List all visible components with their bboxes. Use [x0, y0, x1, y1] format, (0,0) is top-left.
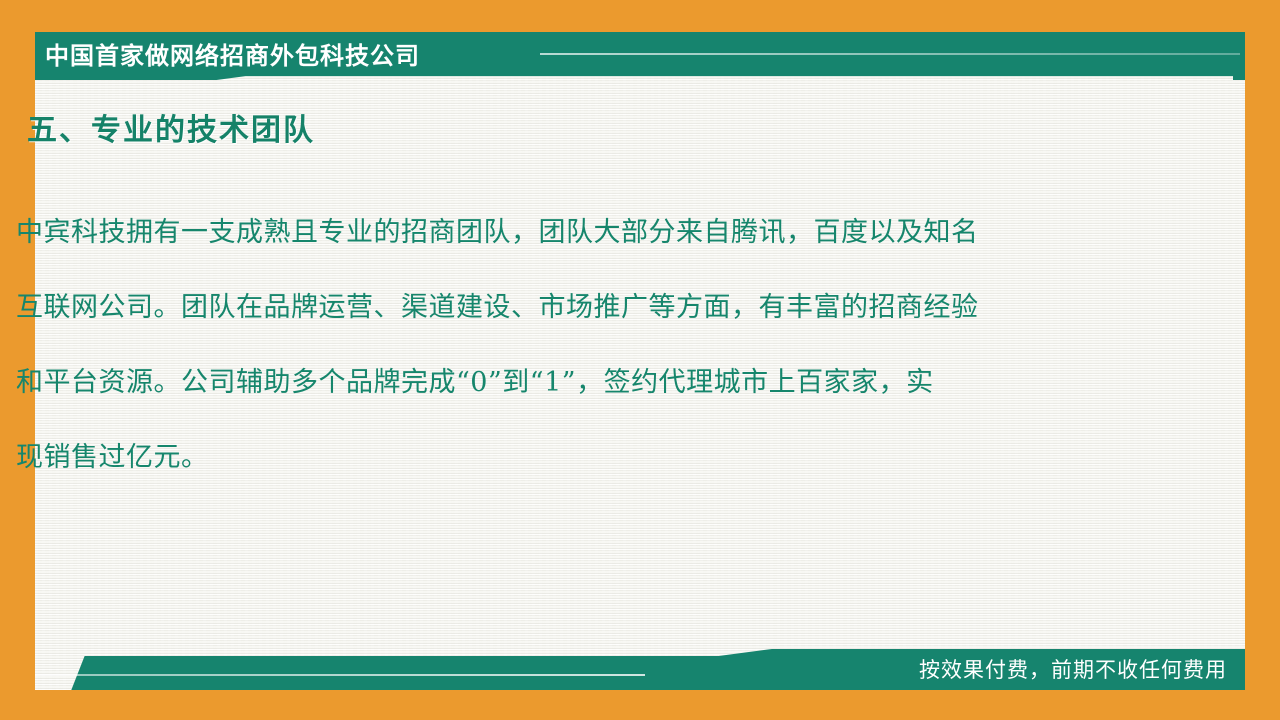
body-paragraph: 中宾科技拥有一支成熟且专业的招商团队，团队大部分来自腾讯，百度以及知名 互联网公… [16, 195, 1151, 495]
footer-band: 按效果付费，前期不收任何费用 [35, 649, 1245, 690]
header-band: 中国首家做网络招商外包科技公司 [35, 32, 1245, 80]
body-line: 中宾科技拥有一支成熟且专业的招商团队，团队大部分来自腾讯，百度以及知名 [16, 195, 1151, 270]
body-line: 现销售过亿元。 [16, 420, 1151, 495]
section-heading: 五、专业的技术团队 [27, 105, 315, 149]
footer-divider-line [35, 674, 645, 676]
footer-tagline: 按效果付费，前期不收任何费用 [919, 656, 1227, 684]
header-title: 中国首家做网络招商外包科技公司 [45, 38, 420, 74]
slide-canvas: 中国首家做网络招商外包科技公司 五、专业的技术团队 中宾科技拥有一支成熟且专业的… [0, 0, 1280, 720]
body-line: 和平台资源。公司辅助多个品牌完成“0”到“1”，签约代理城市上百家家，实 [16, 345, 1151, 420]
body-line: 互联网公司。团队在品牌运营、渠道建设、市场推广等方面，有丰富的招商经验 [16, 270, 1151, 345]
header-divider-line [540, 53, 1240, 55]
